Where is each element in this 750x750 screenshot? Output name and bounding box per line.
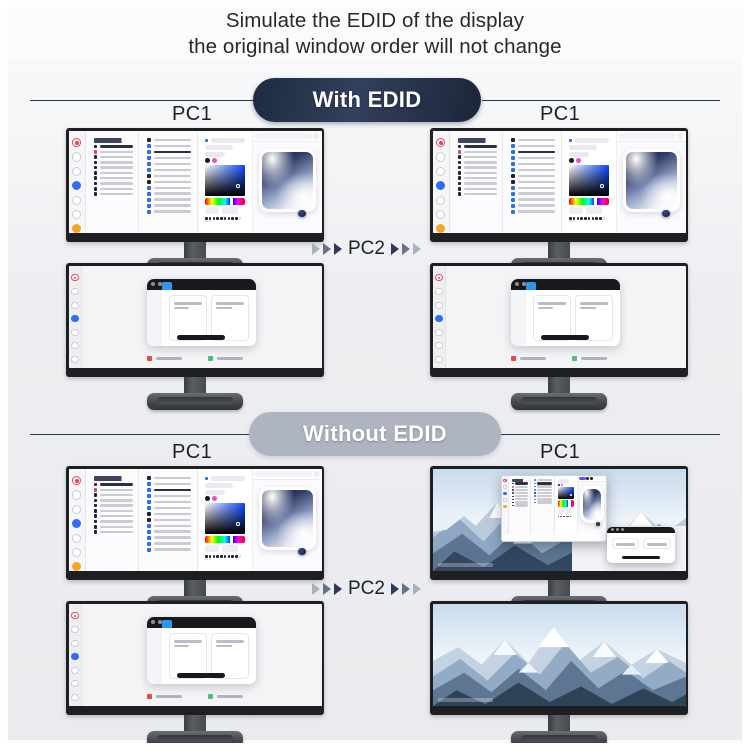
infographic-page: Simulate the EDID of the display the ori… (0, 0, 750, 750)
image-frame (0, 0, 750, 750)
